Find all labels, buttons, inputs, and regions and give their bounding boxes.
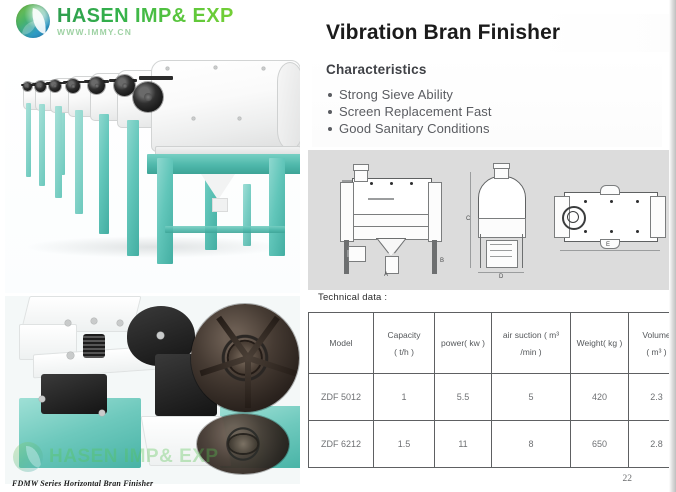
machine-leg-back-1 — [26, 103, 31, 177]
detail-photo: HASEN IMP& EXP — [5, 296, 300, 484]
machine-leg-mid-1 — [75, 110, 83, 214]
cell-model: ZDF 5012 — [309, 374, 374, 421]
machine-leg-front-left — [157, 158, 173, 264]
cell-power: 11 — [435, 421, 492, 468]
list-item: Strong Sieve Ability — [328, 86, 662, 103]
list-item-label: Good Sanitary Conditions — [339, 120, 490, 137]
col-header-capacity: Capacity ( t/h ) — [374, 313, 435, 374]
table-header-row: Model Capacity ( t/h ) power( kw ) air s… — [309, 313, 676, 374]
machine-leg-mid-3 — [99, 114, 109, 234]
page-right-edge — [669, 0, 676, 492]
photo-caption: FDMW Series Horizontal Bran Finisher — [12, 479, 153, 488]
machine-pulley-back-2 — [35, 81, 46, 92]
cell-weight: 420 — [571, 374, 629, 421]
brand-text: HASEN IMP& EXP WWW.IMMY.CN — [57, 6, 234, 37]
brand-name: HASEN IMP& EXP — [57, 6, 234, 26]
list-item: Screen Replacement Fast — [328, 103, 662, 120]
machine-drive-shaft-front — [139, 76, 173, 80]
drawing-canvas: A B C D — [318, 156, 665, 284]
drawing-side-elevation: C D — [466, 162, 538, 286]
machine-discharge-hopper — [201, 174, 235, 200]
bullet-icon — [328, 127, 332, 131]
bullet-icon — [328, 93, 332, 97]
characteristics-section: Characteristics Strong Sieve Ability Scr… — [312, 55, 662, 147]
machine-pulley-mid-2 — [88, 77, 105, 94]
technical-data-table: Model Capacity ( t/h ) power( kw ) air s… — [308, 312, 676, 468]
machine-lower-brace — [165, 226, 285, 233]
list-item: Good Sanitary Conditions — [328, 120, 662, 137]
table-row: ZDF 5012 1 5.5 5 420 2.3 — [309, 374, 676, 421]
machine-pulley-mid-3 — [114, 75, 135, 96]
characteristics-list: Strong Sieve Ability Screen Replacement … — [312, 77, 662, 137]
brand-logo: HASEN IMP& EXP WWW.IMMY.CN — [16, 4, 234, 38]
page-number: 22 — [623, 474, 633, 484]
detail-rubber-mount-left — [41, 374, 107, 414]
characteristics-heading: Characteristics — [312, 55, 662, 77]
right-panel: Vibration Bran Finisher Characteristics … — [306, 0, 669, 492]
machine-leg-back-5 — [55, 106, 62, 198]
technical-drawing-panel: A B C D — [308, 150, 669, 290]
cell-capacity: 1.5 — [374, 421, 435, 468]
col-header-air-suction: air suction ( m³ /min ) — [492, 313, 571, 374]
machine-hopper-neck — [212, 198, 228, 212]
cell-model: ZDF 6212 — [309, 421, 374, 468]
bullet-icon — [328, 110, 332, 114]
cell-weight: 650 — [571, 421, 629, 468]
cell-air-suction: 8 — [492, 421, 571, 468]
detail-pulley-lower — [197, 414, 289, 474]
machine-leg-front-back — [243, 184, 251, 246]
leaf-circle-logo-icon — [16, 4, 50, 38]
drawing-top-plan: E — [550, 184, 668, 258]
page-title: Vibration Bran Finisher — [306, 21, 560, 45]
brand-url: WWW.IMMY.CN — [57, 28, 234, 37]
col-header-weight: Weight( kg ) — [571, 313, 629, 374]
machine-drum-endcap — [277, 62, 300, 150]
detail-belt-pulley-wheel — [191, 304, 299, 412]
machine-pulley-back-3 — [49, 80, 61, 92]
col-header-power: power( kw ) — [435, 313, 492, 374]
machine-pulley-front — [133, 82, 163, 112]
machine-leg-mid-5 — [127, 120, 139, 256]
machine-pulley-mid-1 — [66, 79, 80, 93]
machine-leg-back-3 — [39, 104, 45, 186]
detail-damper-spring — [83, 334, 105, 358]
col-header-model: Model — [309, 313, 374, 374]
table-row: ZDF 6212 1.5 11 8 650 2.8 — [309, 421, 676, 468]
machine-pulley-back-1 — [23, 82, 32, 91]
list-item-label: Strong Sieve Ability — [339, 86, 453, 103]
main-product-photo — [5, 48, 300, 293]
slide-title-bar: Vibration Bran Finisher — [306, 14, 669, 52]
list-item-label: Screen Replacement Fast — [339, 103, 492, 120]
technical-data-label: Technical data : — [318, 292, 387, 303]
machine-leg-front-right — [269, 158, 285, 256]
cell-capacity: 1 — [374, 374, 435, 421]
slide-page: HASEN IMP& EXP WWW.IMMY.CN — [0, 0, 676, 492]
cell-air-suction: 5 — [492, 374, 571, 421]
drawing-front-elevation: A B — [336, 162, 454, 280]
cell-power: 5.5 — [435, 374, 492, 421]
